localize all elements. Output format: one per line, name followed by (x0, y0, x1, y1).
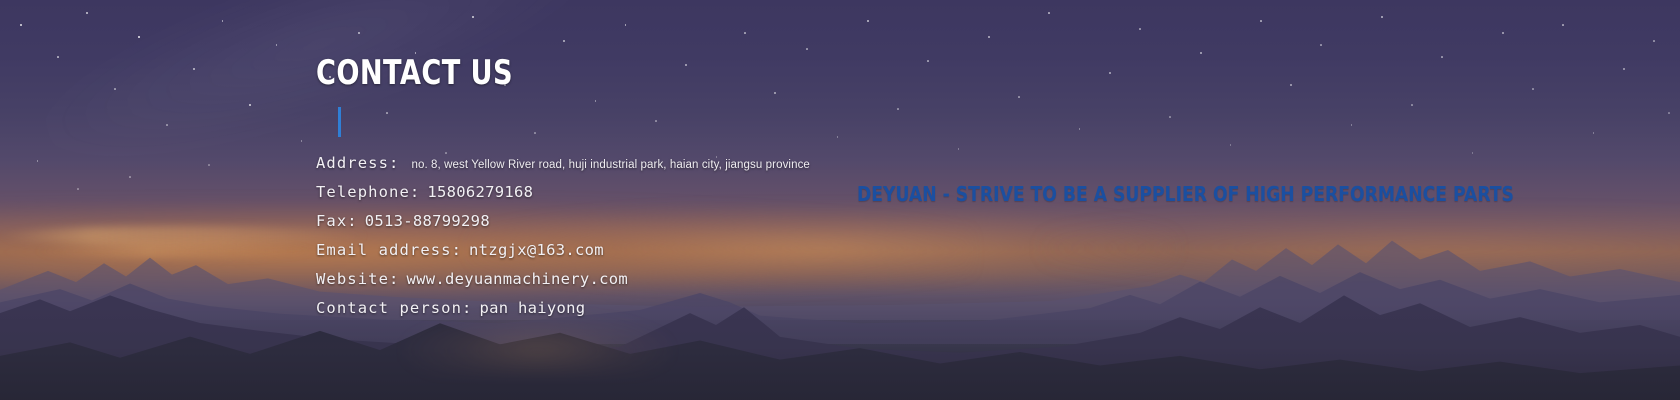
contact-details-list: Address: no. 8, west Yellow River road, … (316, 154, 1076, 328)
fax-value: 0513-88799298 (365, 212, 490, 230)
telephone-value[interactable]: 15806279168 (427, 183, 533, 201)
contact-row-fax: Fax: 0513-88799298 (316, 212, 1076, 241)
address-value: no. 8, west Yellow River road, huji indu… (411, 159, 809, 171)
telephone-label: Telephone: (316, 183, 420, 201)
email-value[interactable]: ntzgjx@163.com (469, 241, 604, 259)
website-label: Website: (316, 270, 399, 288)
fax-label: Fax: (316, 212, 358, 230)
company-tagline: DEYUAN - STRIVE TO BE A SUPPLIER OF HIGH… (857, 184, 1514, 204)
contact-row-contact-person: Contact person: pan haiyong (316, 299, 1076, 328)
page-title: CONTACT US (316, 56, 924, 90)
contact-row-website: Website: www.deyuanmachinery.com (316, 270, 1076, 299)
website-value[interactable]: www.deyuanmachinery.com (406, 270, 628, 288)
address-label: Address: (316, 154, 399, 172)
title-accent-bar (338, 107, 341, 137)
contact-person-label: Contact person: (316, 299, 472, 317)
contact-row-address: Address: no. 8, west Yellow River road, … (316, 154, 1076, 183)
contact-row-email: Email address: ntzgjx@163.com (316, 241, 1076, 270)
email-label: Email address: (316, 241, 462, 259)
banner-content: CONTACT US Address: no. 8, west Yellow R… (0, 0, 1680, 400)
contact-person-value: pan haiyong (479, 299, 585, 317)
contact-us-banner: CONTACT US Address: no. 8, west Yellow R… (0, 0, 1680, 400)
